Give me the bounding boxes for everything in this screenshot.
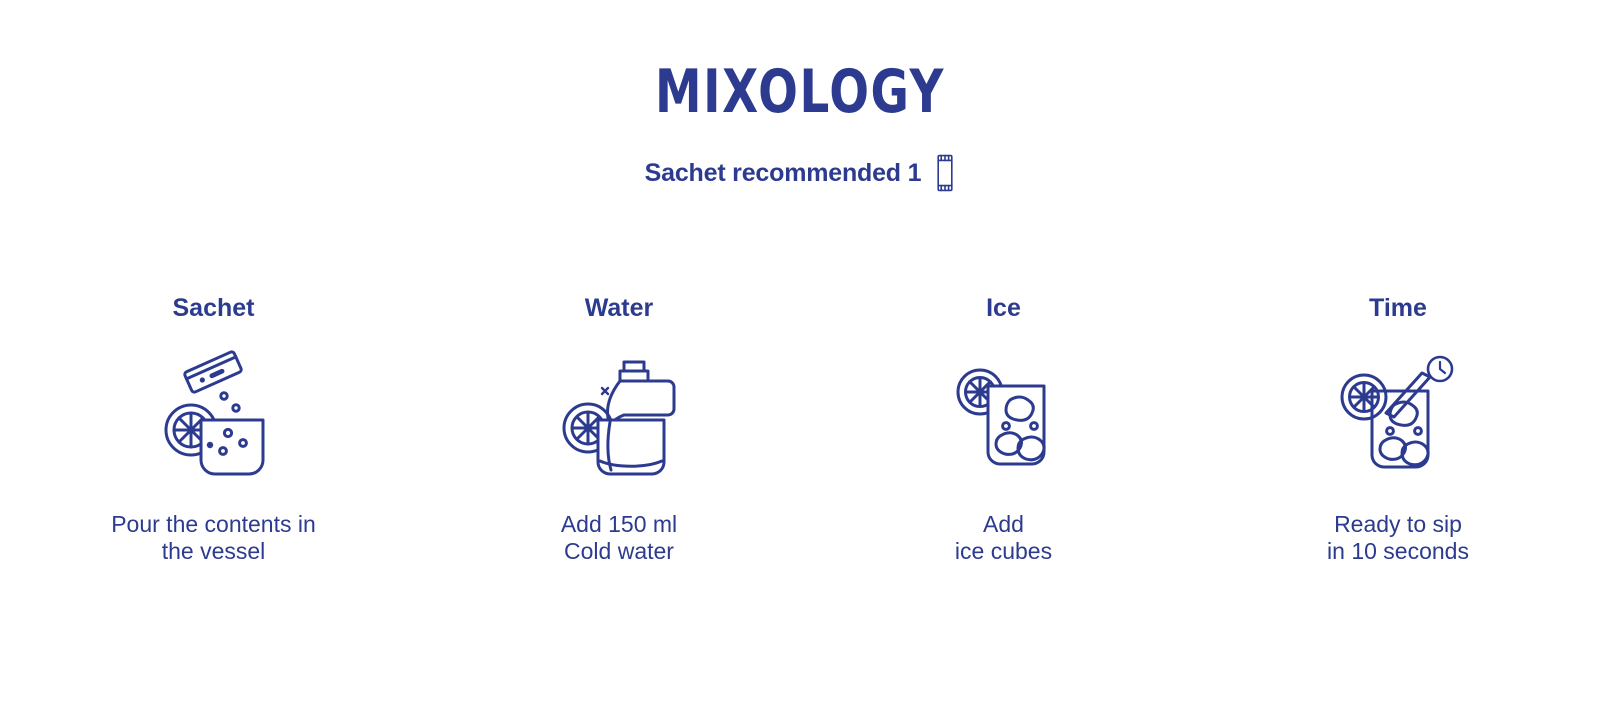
step-sachet: Sachet xyxy=(0,296,427,564)
step-ice: Ice xyxy=(811,296,1196,564)
clock-icon xyxy=(1428,357,1452,381)
sachet-recommendation-label: Sachet recommended 1 xyxy=(645,159,922,188)
steps-row: Sachet xyxy=(0,296,1600,564)
sachet-stick-pack-icon xyxy=(935,154,955,192)
header: MIXOLOGY Sachet recommended 1 xyxy=(0,62,1600,192)
step-water-title: Water xyxy=(427,296,811,321)
step-water-caption: Add 150 ml Cold water xyxy=(427,511,811,564)
step-time-icon-wrap xyxy=(1196,339,1600,489)
subtitle-row: Sachet recommended 1 xyxy=(0,154,1600,192)
sachet-pouring-into-glass-icon xyxy=(155,348,273,480)
step-ice-icon-wrap xyxy=(811,339,1196,489)
page-title: MIXOLOGY xyxy=(176,62,1424,122)
step-time: Time xyxy=(1196,296,1600,564)
glass-with-ice-cubes-icon xyxy=(952,356,1056,472)
step-time-title: Time xyxy=(1196,296,1600,321)
bottle-pouring-water-into-glass-icon xyxy=(558,348,680,480)
step-ice-title: Ice xyxy=(811,296,1196,321)
step-sachet-icon-wrap xyxy=(0,339,427,489)
step-water: Water xyxy=(427,296,811,564)
mixology-instructions-page: MIXOLOGY Sachet recommended 1 xyxy=(0,0,1600,711)
glass-with-straw-and-clock-icon xyxy=(1336,353,1460,475)
step-time-caption: Ready to sip in 10 seconds xyxy=(1196,511,1600,564)
step-water-icon-wrap xyxy=(427,339,811,489)
step-ice-caption: Add ice cubes xyxy=(811,511,1196,564)
step-sachet-title: Sachet xyxy=(0,296,427,321)
step-sachet-caption: Pour the contents in the vessel xyxy=(0,511,427,564)
